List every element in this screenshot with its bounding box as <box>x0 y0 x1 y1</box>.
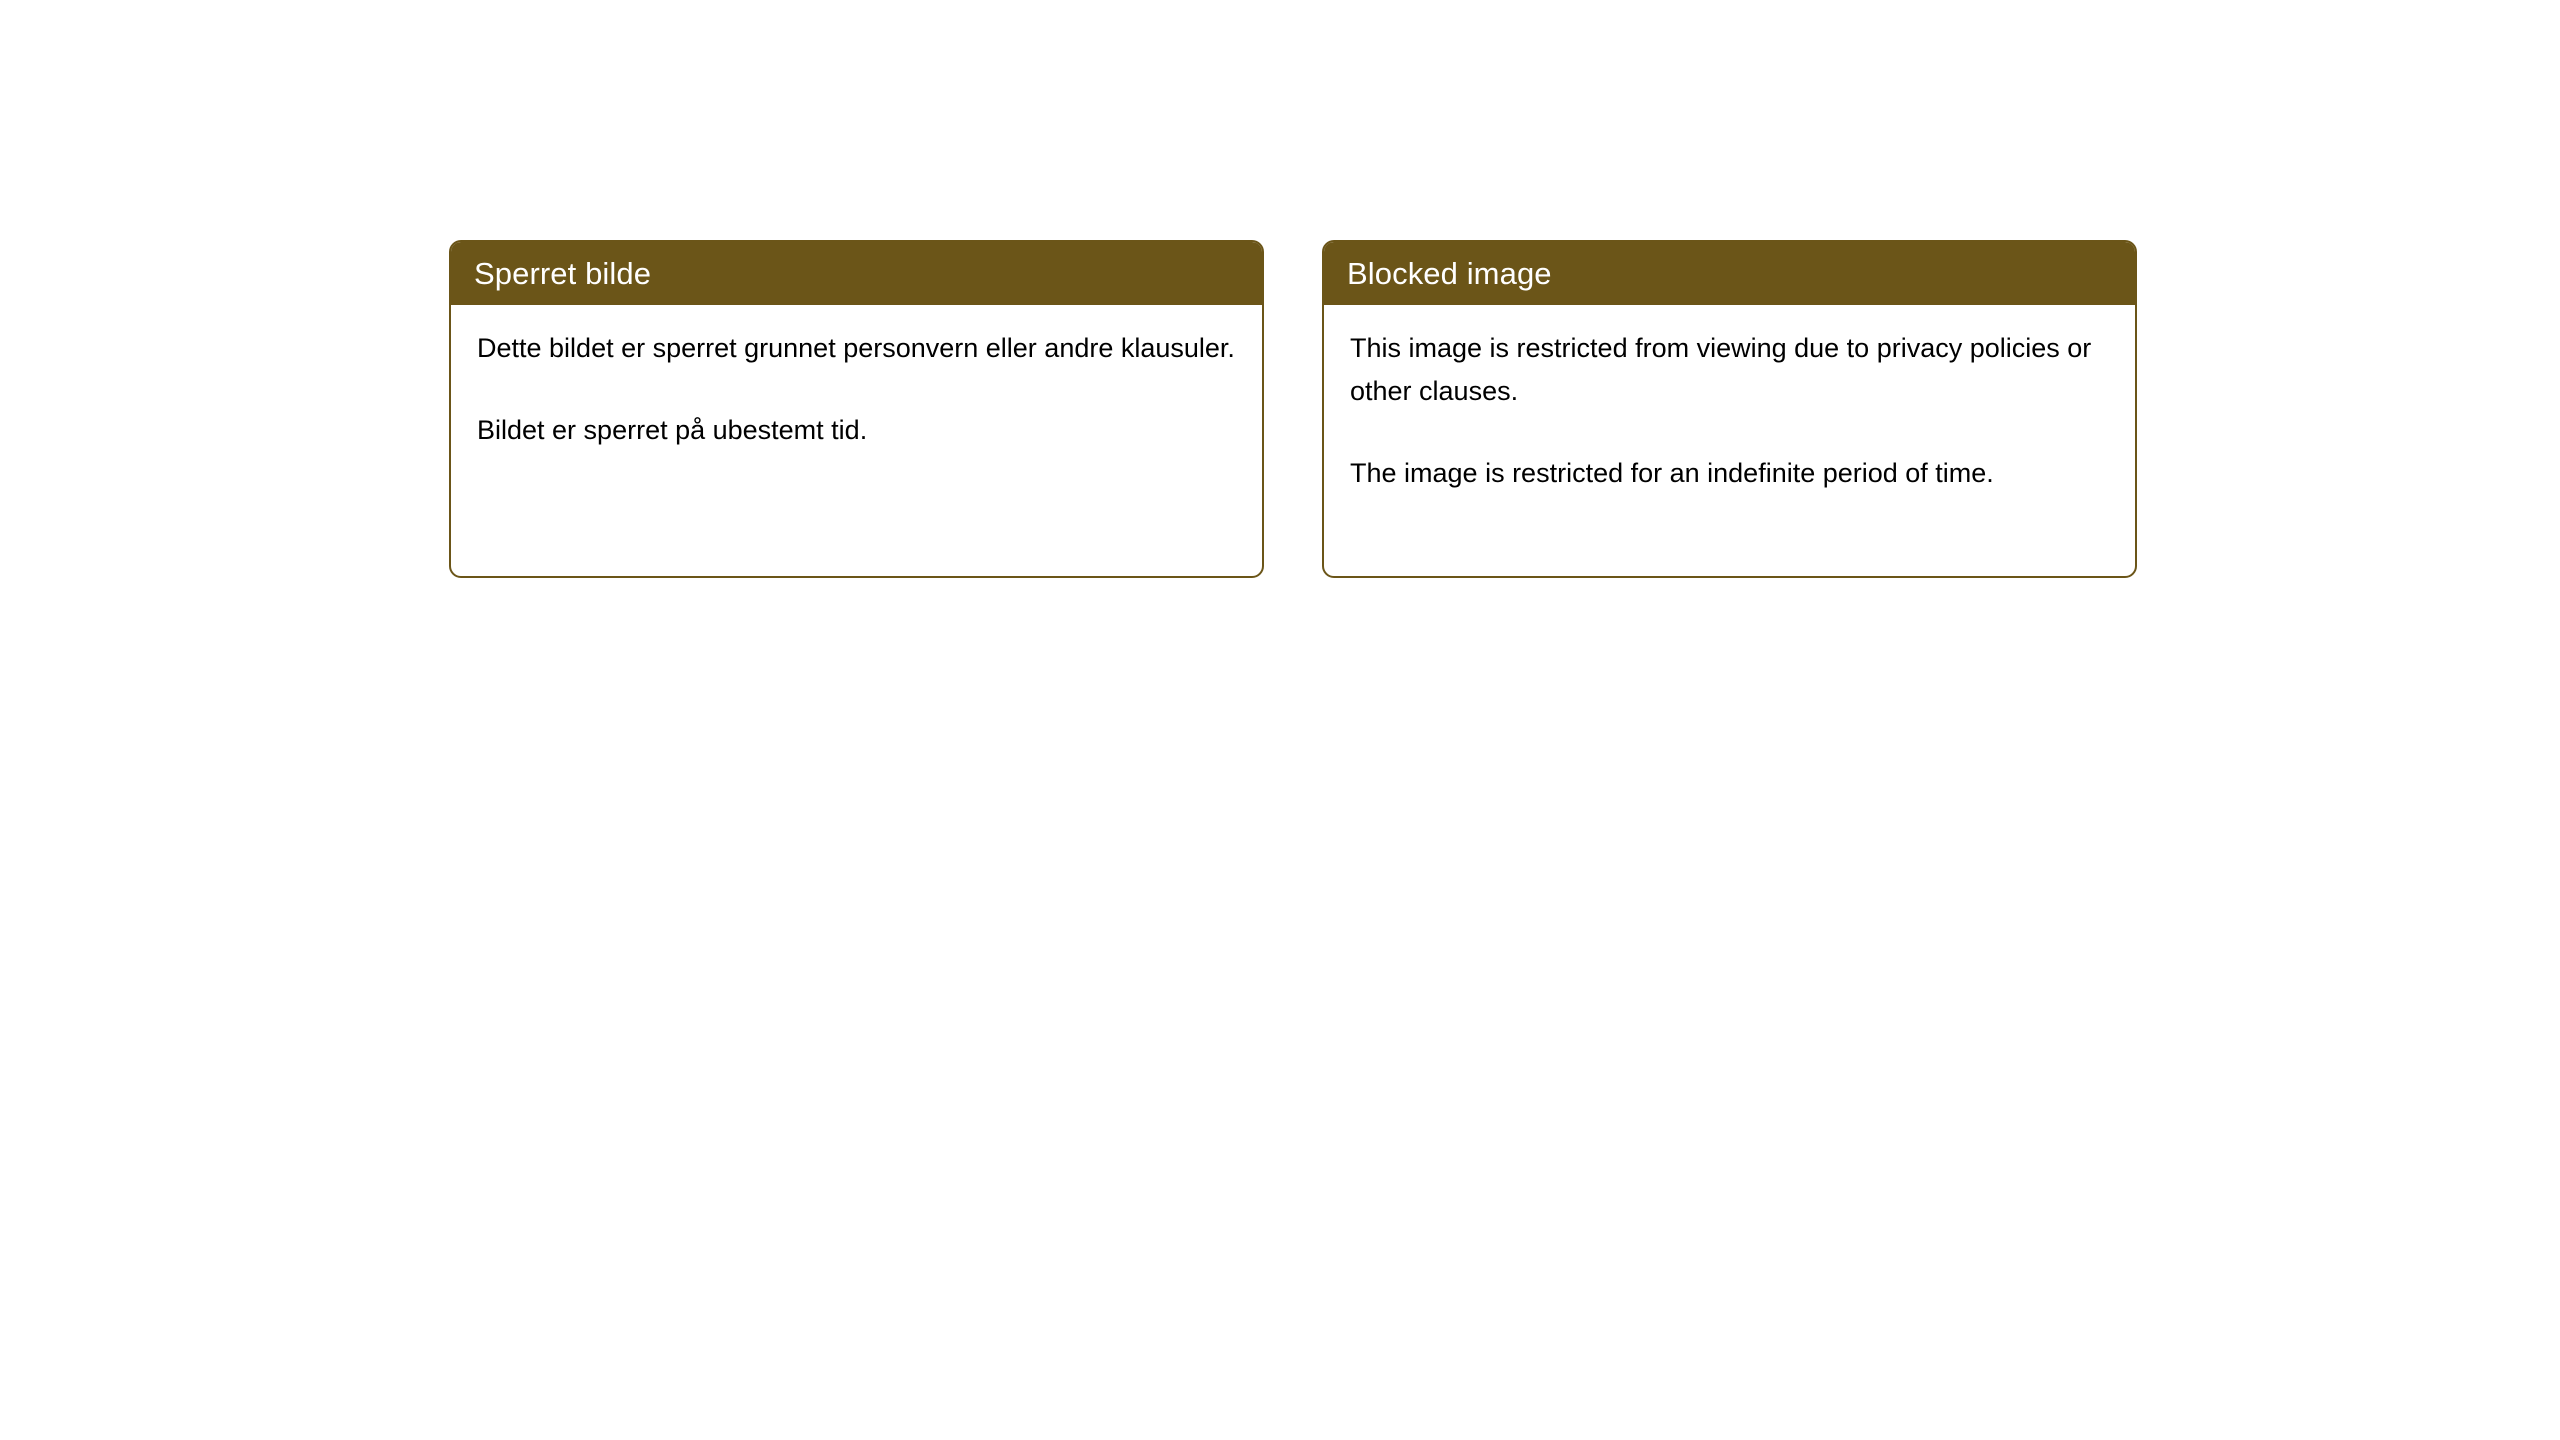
blocked-image-panel-norwegian: Sperret bilde Dette bildet er sperret gr… <box>449 240 1264 578</box>
panel-paragraph-norwegian-2: Bildet er sperret på ubestemt tid. <box>477 409 1238 452</box>
panel-header-norwegian: Sperret bilde <box>451 242 1262 305</box>
panel-paragraph-english-2: The image is restricted for an indefinit… <box>1350 452 2111 495</box>
panel-body-norwegian: Dette bildet er sperret grunnet personve… <box>451 305 1262 452</box>
panel-body-english: This image is restricted from viewing du… <box>1324 305 2135 495</box>
panel-title-english: Blocked image <box>1347 258 1552 289</box>
panel-header-english: Blocked image <box>1324 242 2135 305</box>
panel-paragraph-norwegian-1: Dette bildet er sperret grunnet personve… <box>477 327 1238 370</box>
blocked-image-notice-stage: Sperret bilde Dette bildet er sperret gr… <box>0 0 2560 1440</box>
panel-title-norwegian: Sperret bilde <box>474 258 651 289</box>
panel-paragraph-english-1: This image is restricted from viewing du… <box>1350 327 2111 413</box>
blocked-image-panel-english: Blocked image This image is restricted f… <box>1322 240 2137 578</box>
